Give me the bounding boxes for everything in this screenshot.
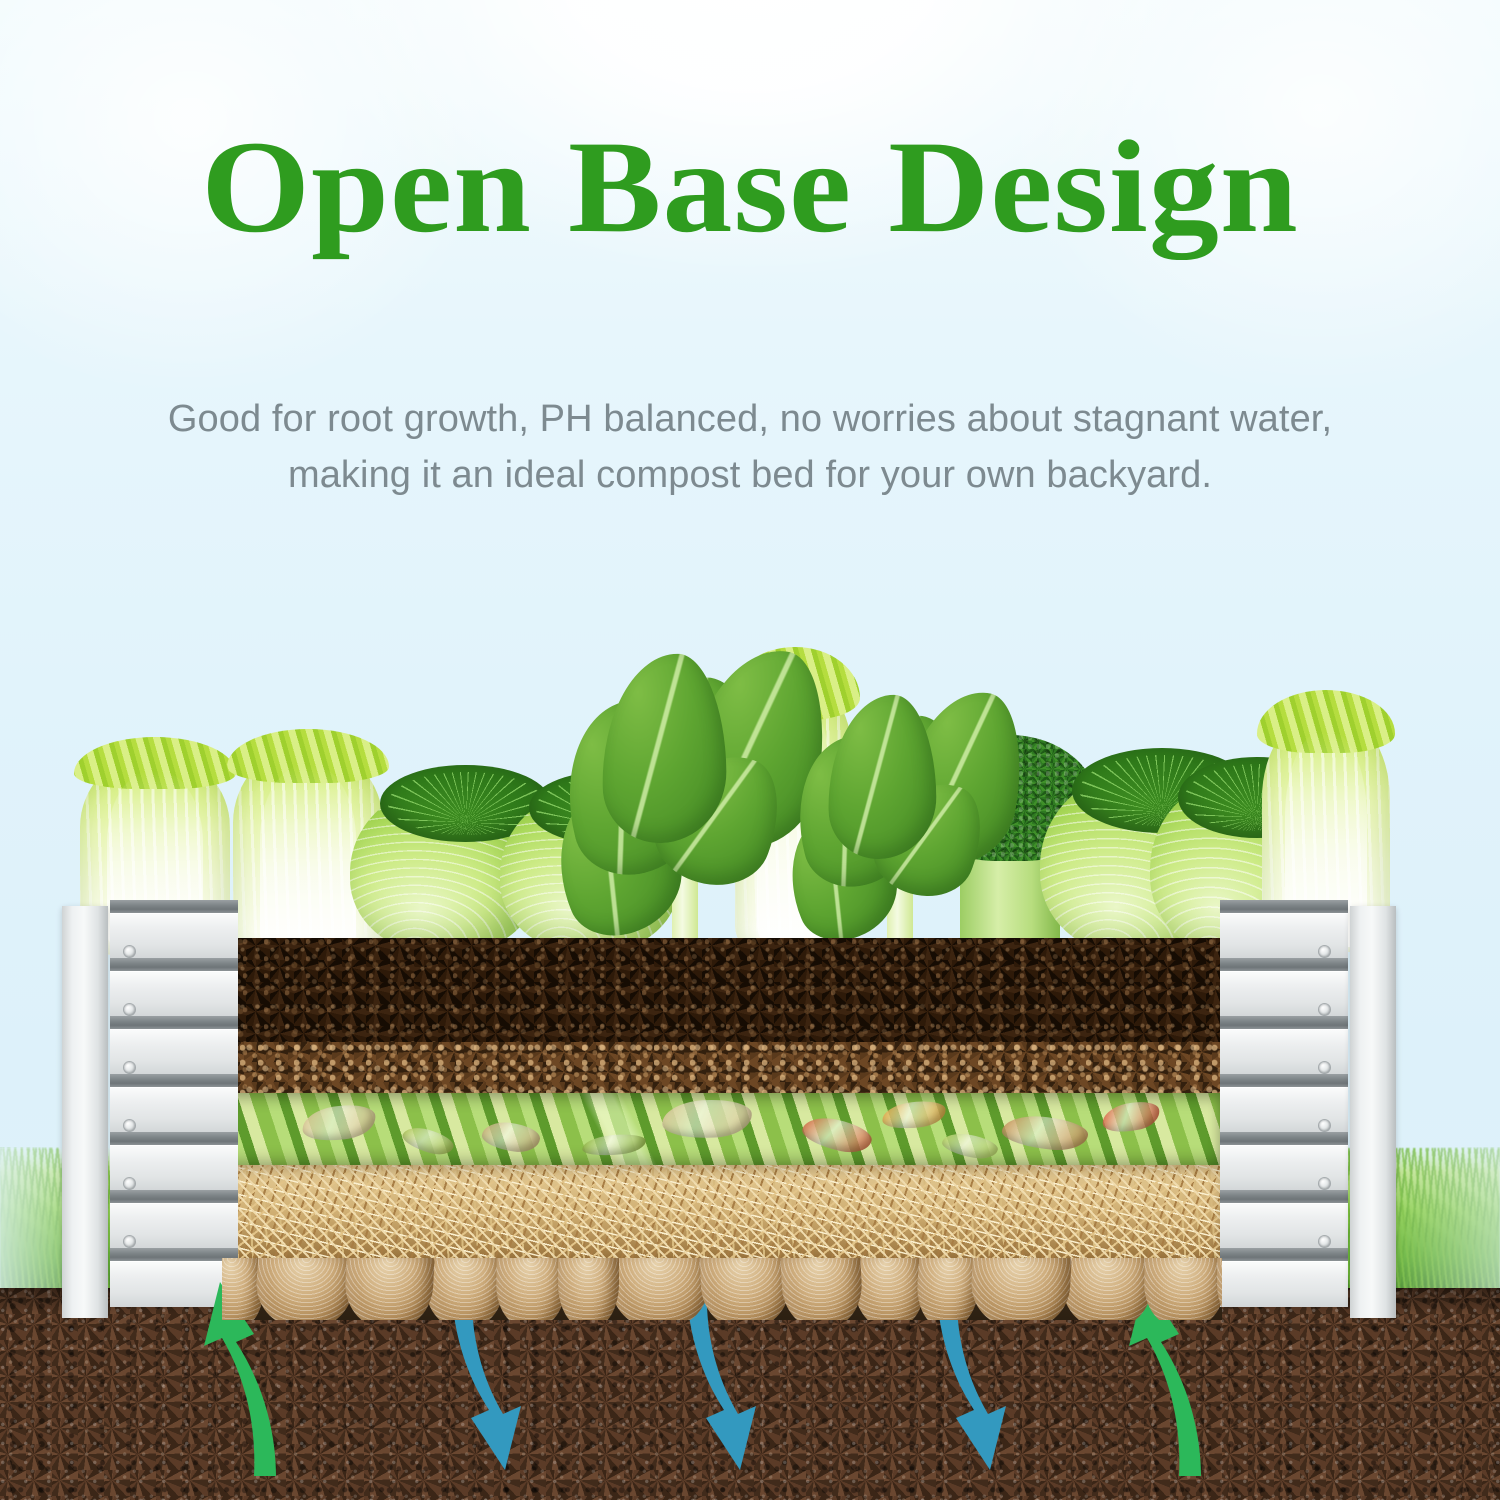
panel-screw (1319, 1004, 1330, 1015)
panel-screw (124, 1120, 135, 1131)
panel-screw (1319, 1120, 1330, 1131)
base-log (1061, 1258, 1154, 1320)
compost-scrap (300, 1100, 378, 1145)
base-log (253, 1258, 355, 1320)
subtitle-line-2: making it an ideal compost bed for your … (65, 448, 1435, 504)
bok-choy-leaf (601, 653, 728, 844)
slat-seam (1220, 1016, 1348, 1029)
compost-scrap (581, 1131, 647, 1158)
topsoil-subsoil-band (222, 1042, 1222, 1093)
panel-screw (1319, 1236, 1330, 1247)
base-log (969, 1258, 1072, 1320)
compost-scrap (1001, 1114, 1089, 1153)
panel-screw (124, 1062, 135, 1073)
panel-screw (124, 1236, 135, 1247)
slat-seam (110, 1248, 238, 1261)
slat-seam (1220, 1074, 1348, 1087)
panel-screw (1319, 1178, 1330, 1189)
bok-choy-leaf (827, 694, 938, 860)
panel-screw (124, 1004, 135, 1015)
panel-screw (1319, 1062, 1330, 1073)
log-layer (222, 1258, 1222, 1320)
page-subtitle: Good for root growth, PH balanced, no wo… (65, 392, 1435, 504)
slat-seam (110, 1074, 238, 1087)
slat-seam (1220, 958, 1348, 971)
corner-post-right (1350, 906, 1396, 1318)
slat-seam (110, 1190, 238, 1203)
soil-cross-section (222, 938, 1222, 1320)
compost-scrap (881, 1097, 948, 1132)
panel-screw (1319, 946, 1330, 957)
compost-scrap (941, 1130, 1000, 1161)
corrugated-slats-right (1220, 900, 1348, 1320)
base-log (780, 1258, 864, 1320)
slat-seam (1220, 1132, 1348, 1145)
compost-scrap (1100, 1097, 1163, 1136)
compost-scrap (661, 1097, 753, 1141)
subtitle-line-1: Good for root growth, PH balanced, no wo… (65, 392, 1435, 448)
panel-screw (124, 1178, 135, 1189)
base-log (610, 1258, 709, 1320)
kitchen-scraps-layer (222, 1093, 1222, 1165)
slat-seam (1220, 900, 1348, 913)
slat-seam (110, 900, 238, 913)
product-feature-image: Open Base Design Good for root growth, P… (0, 0, 1500, 1500)
slat-seam (1220, 1248, 1348, 1261)
corrugated-slats-left (110, 900, 238, 1320)
slat-seam (110, 1132, 238, 1145)
page-title: Open Base Design (0, 118, 1500, 257)
base-log (558, 1258, 619, 1320)
straw-layer (222, 1165, 1222, 1258)
bed-panel-left (62, 900, 238, 1320)
compost-scrap (400, 1124, 456, 1159)
slat-seam (1220, 1190, 1348, 1203)
compost-scrap (481, 1120, 542, 1155)
base-log (343, 1258, 435, 1320)
base-log (424, 1258, 506, 1320)
slat-seam (110, 1016, 238, 1029)
topsoil-layer (222, 938, 1222, 1093)
base-log (495, 1258, 566, 1320)
panel-screw (124, 946, 135, 957)
compost-scrap (800, 1113, 875, 1157)
raised-garden-bed (0, 900, 1500, 1330)
base-log (851, 1258, 927, 1320)
slat-seam (110, 958, 238, 971)
base-log (700, 1258, 792, 1320)
corner-post-left (62, 906, 108, 1318)
bed-panel-right (1220, 900, 1396, 1320)
base-log (1143, 1258, 1222, 1320)
